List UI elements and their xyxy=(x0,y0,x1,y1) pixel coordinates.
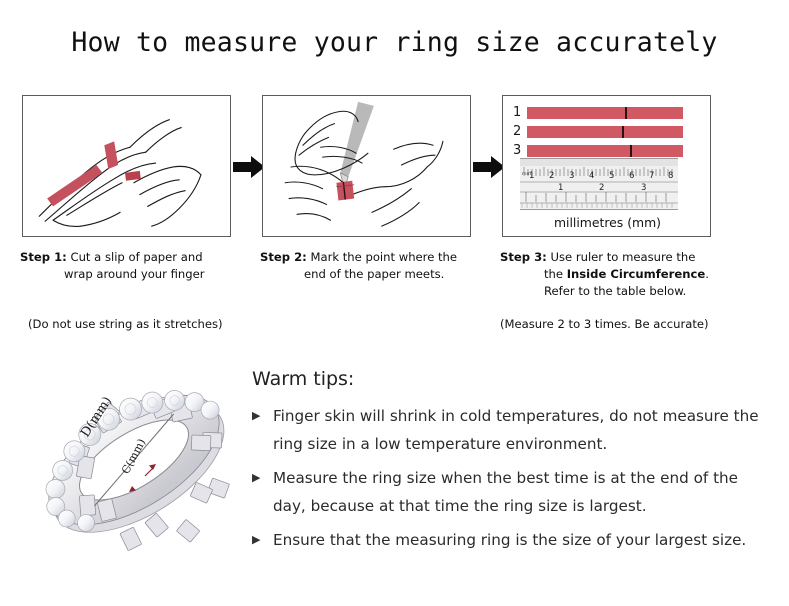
hand-marking-paper-drawing xyxy=(263,96,470,236)
page-title: How to measure your ring size accurately xyxy=(0,27,789,58)
step3-line2: the Inside Circumference. xyxy=(500,266,746,283)
millimetres-caption: millimetres (mm) xyxy=(503,215,711,230)
ruler-cm-tick-4: 4 xyxy=(589,171,594,181)
arrow-step2-to-step3-icon xyxy=(473,156,505,178)
paper-strip-2 xyxy=(527,126,683,138)
step1-label: Step 1: xyxy=(20,250,67,264)
step1-line1: Cut a slip of paper and xyxy=(70,250,202,264)
ruler-cm-tick-7: 7 xyxy=(649,171,654,181)
measured-strip-row-2: 2 xyxy=(513,125,683,138)
step3-label: Step 3: xyxy=(500,250,547,264)
ruler-cm-tick-2: 2 xyxy=(549,171,554,181)
triangle-bullet-icon: ▶ xyxy=(252,402,260,430)
hand-with-paper-slip-drawing xyxy=(23,96,230,236)
step1-line2: wrap around your finger xyxy=(20,266,266,283)
triangle-bullet-icon: ▶ xyxy=(252,464,260,492)
warm-tip-item: ▶ Finger skin will shrink in cold temper… xyxy=(252,402,772,458)
ruler-cm-tick-5: 5 xyxy=(609,171,614,181)
ruler-cm-tick-6: 6 xyxy=(629,171,634,181)
warm-tip-text: Measure the ring size when the best time… xyxy=(273,469,738,515)
step3-line2-prefix: the xyxy=(544,267,567,281)
warm-tips-list: ▶ Finger skin will shrink in cold temper… xyxy=(252,402,772,560)
step2-line2: end of the paper meets. xyxy=(260,266,506,283)
paper-slip-loose xyxy=(47,165,102,206)
strip-number-1: 1 xyxy=(513,106,527,119)
ruler-cm-tick-3: 3 xyxy=(569,171,574,181)
warm-tip-text: Finger skin will shrink in cold temperat… xyxy=(273,407,759,453)
ruler-inch-tick-2: 2 xyxy=(599,183,604,193)
step3-measure-panel: 1 2 3 xyxy=(502,95,711,237)
measured-strip-row-3: 3 xyxy=(513,144,683,157)
step3-note: (Measure 2 to 3 times. Be accurate) xyxy=(500,317,709,331)
step1-illustration-panel xyxy=(22,95,231,237)
warm-tip-item: ▶ Measure the ring size when the best ti… xyxy=(252,464,772,520)
step3-caption: Step 3: Use ruler to measure the the Ins… xyxy=(500,249,746,300)
step3-inside-circumference-emphasis: Inside Circumference xyxy=(567,267,706,281)
paper-slip-marked xyxy=(336,181,354,201)
strip-mark-1 xyxy=(625,107,627,119)
ring-size-guide-page: How to measure your ring size accurately xyxy=(0,0,789,606)
strip-mark-3 xyxy=(630,145,632,157)
strip-mark-2 xyxy=(622,126,624,138)
arrow-step1-to-step2-icon xyxy=(233,156,265,178)
paper-strip-1 xyxy=(527,107,683,119)
strip-number-2: 2 xyxy=(513,125,527,138)
step2-caption: Step 2: Mark the point where the end of … xyxy=(260,249,506,283)
warm-tip-text: Ensure that the measuring ring is the si… xyxy=(273,531,746,549)
strip-number-3: 3 xyxy=(513,144,527,157)
step1-note: (Do not use string as it stretches) xyxy=(28,317,223,331)
warm-tips-heading: Warm tips: xyxy=(252,368,354,390)
ruler-cm-tick-8: 8 xyxy=(668,171,673,181)
ruler-inch-tick-1: 1 xyxy=(558,183,563,193)
ruler-inch-tick-3: 3 xyxy=(641,183,646,193)
measured-strip-row-1: 1 xyxy=(513,106,683,119)
ruler-cm-tick-1: 1 xyxy=(529,171,534,181)
step1-caption: Step 1: Cut a slip of paper and wrap aro… xyxy=(20,249,266,283)
triangle-bullet-icon: ▶ xyxy=(252,526,260,554)
step2-line1: Mark the point where the xyxy=(310,250,457,264)
ruler-graphic: mm 1 2 3 4 5 6 7 8 1 2 3 xyxy=(520,158,678,210)
step2-illustration-panel xyxy=(262,95,471,237)
step3-line2-suffix: . xyxy=(705,267,709,281)
step3-line3: Refer to the table below. xyxy=(500,283,746,300)
step2-label: Step 2: xyxy=(260,250,307,264)
paper-slip-wrapped xyxy=(104,141,140,180)
step3-line1: Use ruler to measure the xyxy=(550,250,695,264)
paper-strip-3 xyxy=(527,145,683,157)
warm-tip-item: ▶ Ensure that the measuring ring is the … xyxy=(252,526,772,554)
